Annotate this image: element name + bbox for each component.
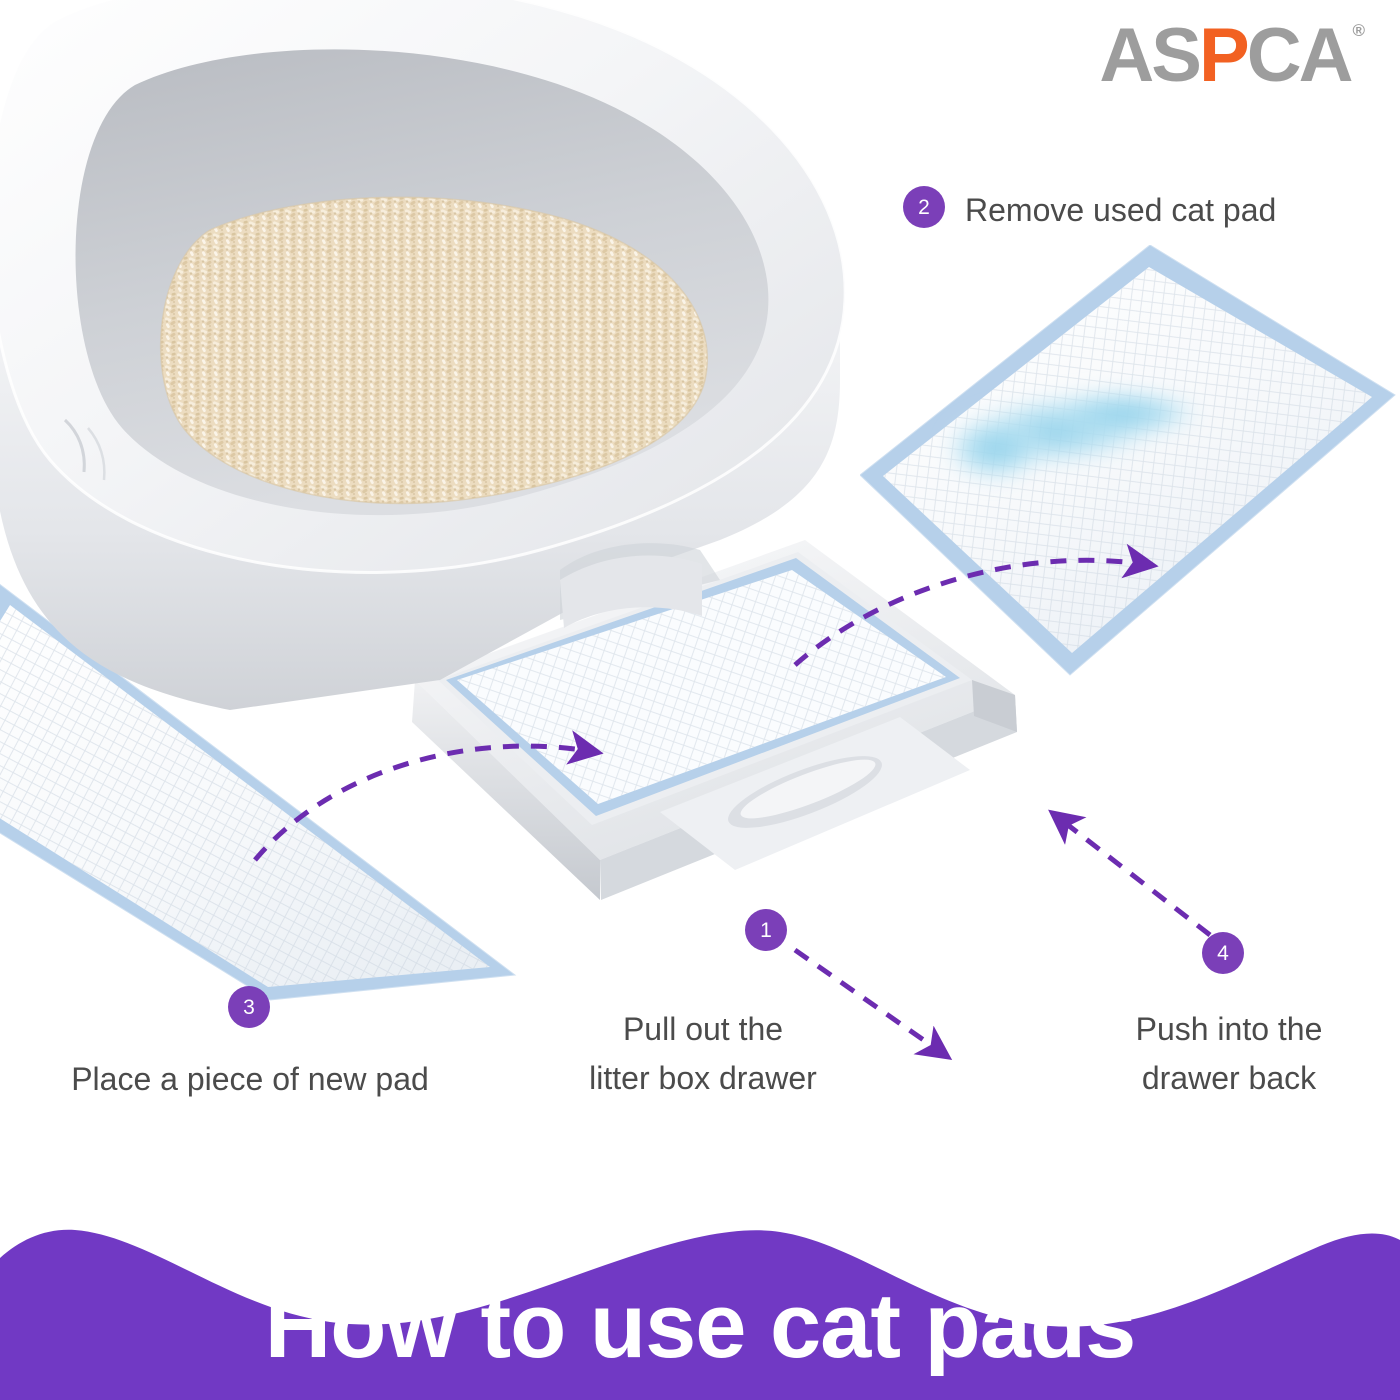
step-badge-2-number: 2: [918, 197, 930, 218]
aspca-logo: ASPCA®: [1099, 18, 1362, 94]
step-badge-2[interactable]: 2: [903, 186, 945, 228]
step-badge-3-number: 3: [243, 997, 255, 1018]
banner-title: How to use cat pads: [0, 1280, 1400, 1372]
step-caption-4: Push into the drawer back: [1079, 1005, 1379, 1102]
bottom-banner: How to use cat pads: [0, 1140, 1400, 1400]
step-badge-3[interactable]: 3: [228, 986, 270, 1028]
infographic-canvas: ASPCA®: [0, 0, 1400, 1400]
cat-litter: [161, 197, 708, 503]
logo-text-as: AS: [1099, 18, 1199, 94]
cat-litter-box: [0, 0, 900, 740]
step-caption-1: Pull out the litter box drawer: [553, 1005, 853, 1102]
logo-text-p: P: [1199, 18, 1247, 94]
logo-text-ca: CA: [1247, 18, 1351, 94]
arrow-step-4: [1055, 815, 1210, 935]
step-badge-1-number: 1: [760, 920, 772, 941]
step-badge-4-number: 4: [1217, 943, 1229, 964]
step-badge-4[interactable]: 4: [1202, 932, 1244, 974]
registered-trademark-icon: ®: [1352, 22, 1362, 39]
step-caption-3: Place a piece of new pad: [50, 1055, 450, 1104]
step-caption-2: Remove used cat pad: [965, 186, 1385, 235]
step-badge-1[interactable]: 1: [745, 909, 787, 951]
